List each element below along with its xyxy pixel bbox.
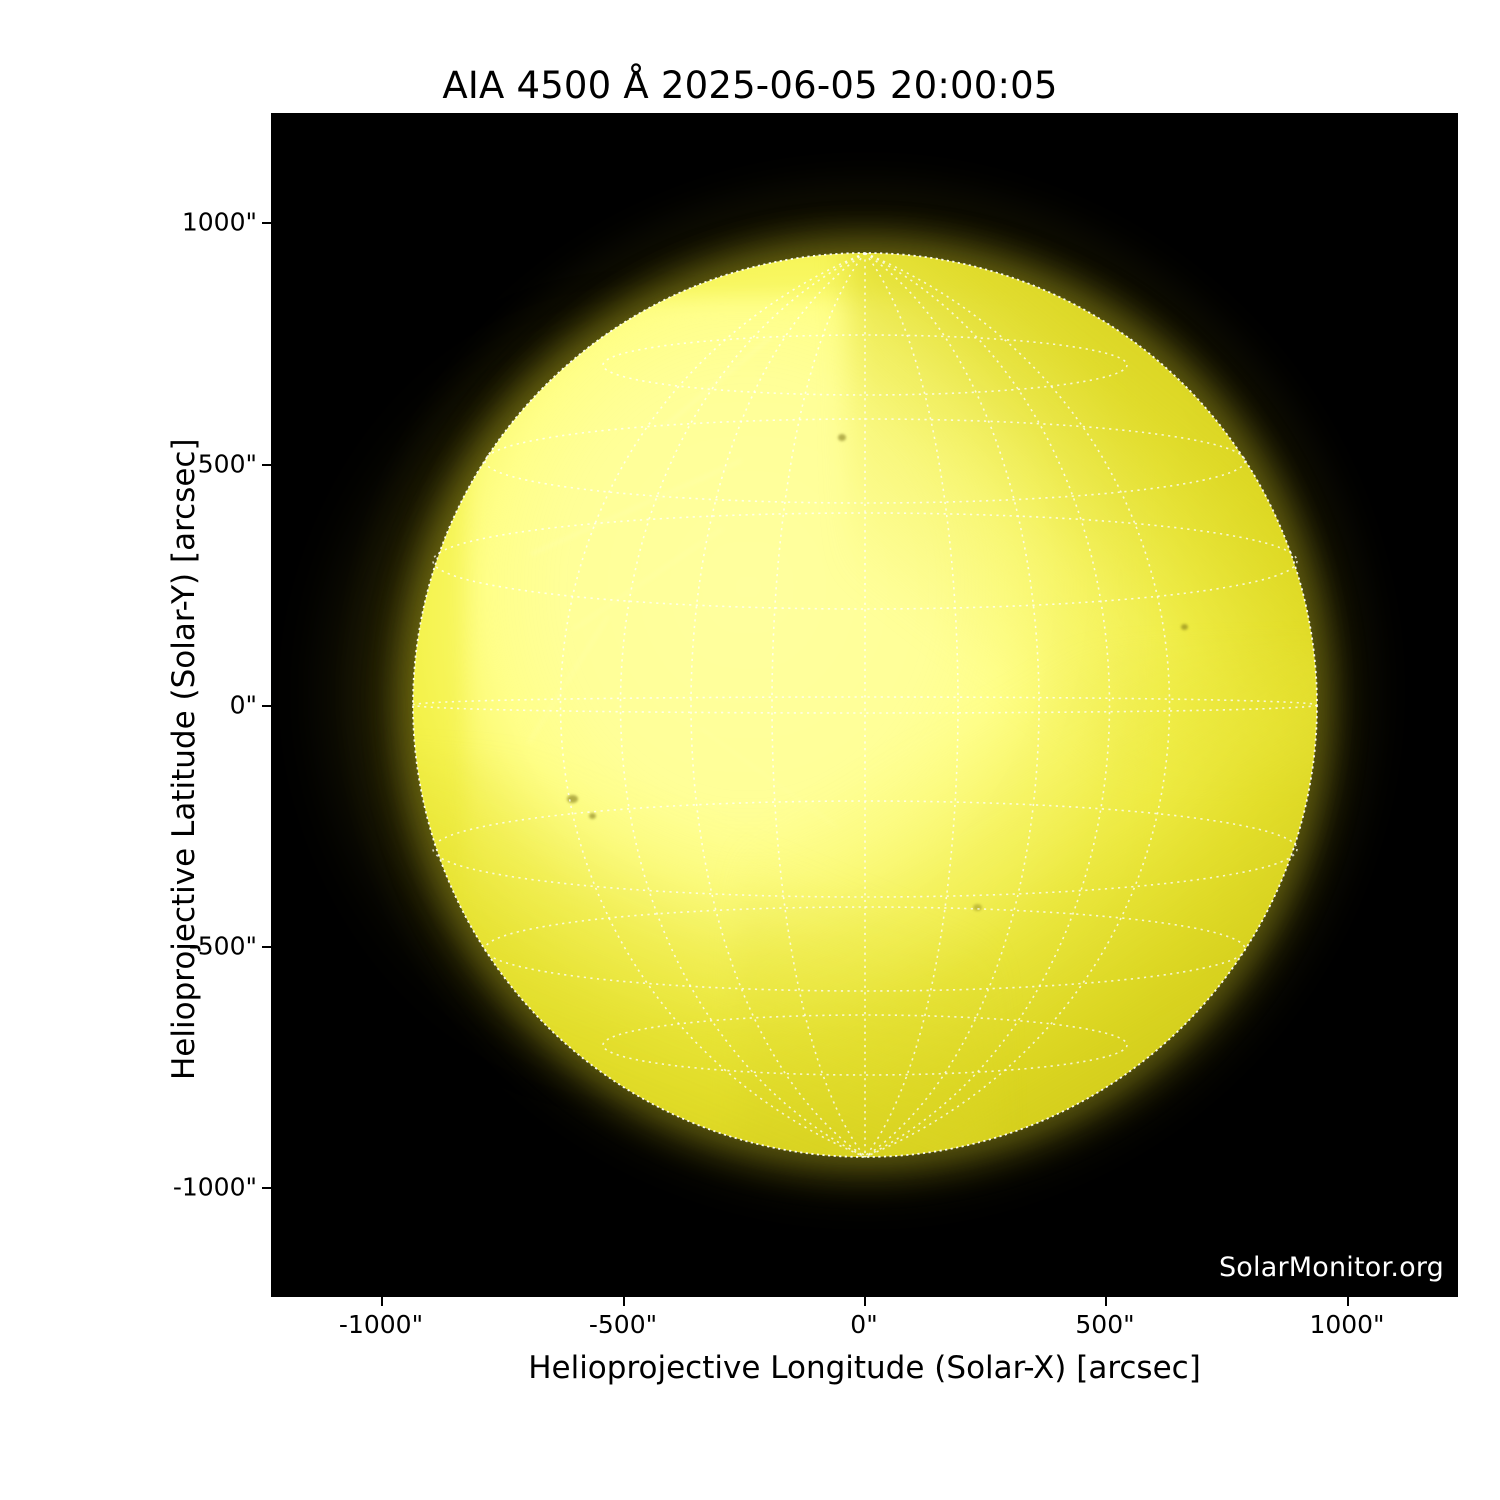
- x-tick-label: 1000": [1309, 1310, 1384, 1339]
- x-axis-title: Helioprojective Longitude (Solar-X) [arc…: [271, 1350, 1458, 1386]
- y-tick-label: 0": [230, 691, 257, 720]
- y-tick-mark: [262, 946, 271, 948]
- x-tick-label: -1000": [339, 1310, 423, 1339]
- limb-darkening: [413, 253, 1317, 1157]
- page-title: AIA 4500 Å 2025-06-05 20:00:05: [0, 64, 1500, 107]
- x-tick-mark: [864, 1297, 866, 1306]
- x-tick-mark: [623, 1297, 625, 1306]
- y-tick-mark: [262, 464, 271, 466]
- y-tick-mark: [262, 1187, 271, 1189]
- y-tick-label: 1000": [182, 208, 257, 237]
- image-plot-area[interactable]: SolarMonitor.org: [271, 113, 1458, 1297]
- y-tick-label: -1000": [173, 1173, 257, 1202]
- y-tick-mark: [262, 705, 271, 707]
- watermark-solarmonitor: SolarMonitor.org: [1219, 1252, 1444, 1283]
- x-tick-label: 500": [1075, 1310, 1134, 1339]
- y-tick-label: 500": [198, 450, 257, 479]
- x-tick-mark: [1347, 1297, 1349, 1306]
- solar-image-figure: AIA 4500 Å 2025-06-05 20:00:05: [0, 0, 1500, 1500]
- solar-disk: [413, 253, 1317, 1157]
- x-tick-label: -500": [589, 1310, 657, 1339]
- y-tick-mark: [262, 222, 271, 224]
- x-tick-label: 0": [850, 1310, 877, 1339]
- y-axis-title: Helioprojective Latitude (Solar-Y) [arcs…: [166, 438, 202, 1080]
- x-tick-mark: [381, 1297, 383, 1306]
- x-tick-mark: [1105, 1297, 1107, 1306]
